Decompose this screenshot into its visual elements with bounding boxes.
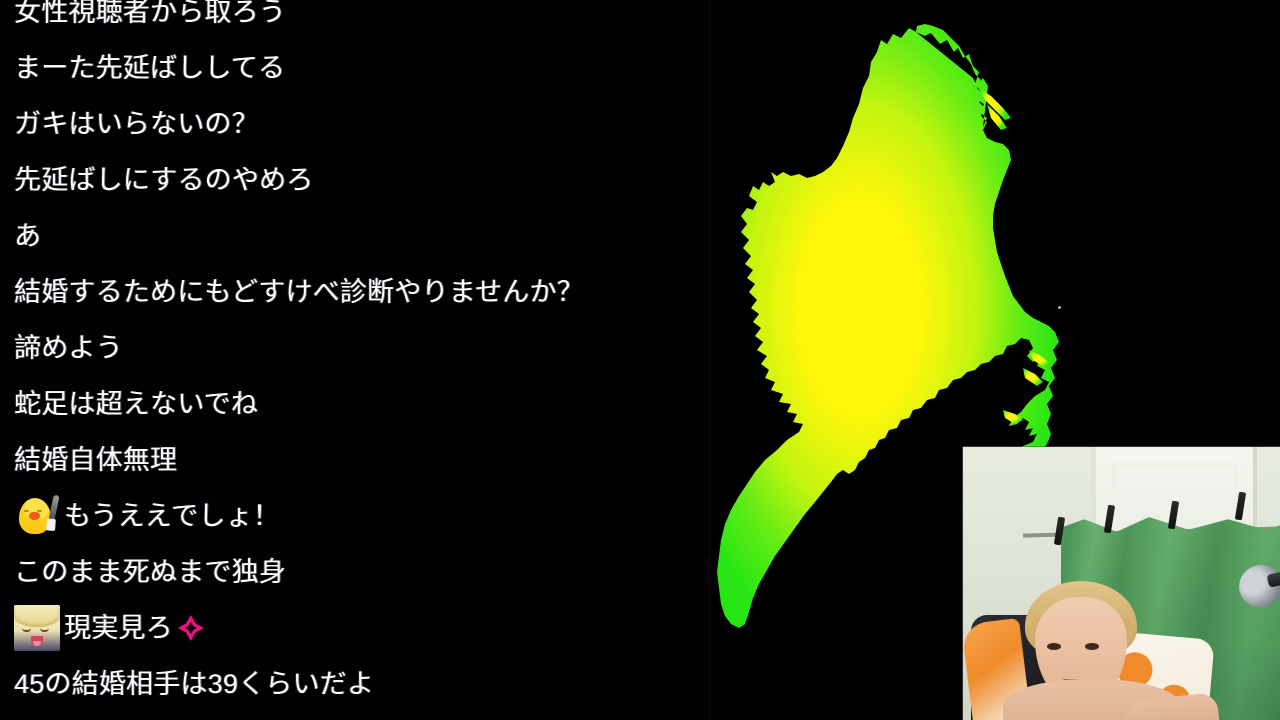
chat-message-text: このまま死ぬまで独身 [14,544,286,600]
chat-message-text: 現実見ろ [64,600,173,656]
chat-message-text: 結婚自体無理 [14,432,177,488]
chat-message: 蛇足は超えないでね [0,376,711,432]
webcam-person-eye-left [1047,643,1061,650]
chat-message-text: もうええでしょ！ [64,488,280,544]
anger-burst-icon [178,615,204,641]
streamer-webcam[interactable] [963,447,1280,720]
chat-message-text: あ [14,208,41,264]
cigarette-icon [48,495,59,522]
chat-message-text: まーた先延ばししてる [14,40,285,96]
webcam-person-eye-right [1085,643,1099,650]
stream-overlay-root: 女性視聴者から取ろう まーた先延ばししてる ガキはいらないの？ 先延ばしにするの… [0,0,1280,720]
chat-message-text: ガキはいらないの？ [14,96,259,152]
chat-message: まーた先延ばししてる [0,40,711,96]
chat-message-list[interactable]: 女性視聴者から取ろう まーた先延ばししてる ガキはいらないの？ 先延ばしにするの… [0,0,711,712]
chat-message: 45の結婚相手は39くらいだよ [0,656,711,712]
chat-message: このまま死ぬまで独身 [0,544,711,600]
chat-message: ガキはいらないの？ [0,96,711,152]
chat-message-text: 蛇足は超えないでね [14,376,258,432]
chat-message: もうええでしょ！ [0,488,711,544]
chat-message: 結婚自体無理 [0,432,711,488]
chick-emoji-avatar [14,493,60,539]
avatar-eye-right-icon [40,628,49,632]
chat-message-text: 45の結婚相手は39くらいだよ [14,656,374,712]
chat-message: 先延ばしにするのやめろ [0,152,711,208]
chat-panel[interactable]: 女性視聴者から取ろう まーた先延ばししてる ガキはいらないの？ 先延ばしにするの… [0,0,711,720]
avatar-mouth-icon [31,636,43,646]
chat-message: 諦めよう [0,320,711,376]
chat-message: 女性視聴者から取ろう [0,0,711,40]
chat-message-text: 結婚するためにもどすけべ診断やりませんか？ [14,264,584,320]
chat-message: あ [0,208,711,264]
avatar-eye-left-icon [22,628,31,632]
chat-message: 現実見ろ [0,600,711,656]
chat-message-text: 先延ばしにするのやめろ [14,152,313,208]
map-marker-dot [1058,306,1061,309]
anime-girl-avatar [14,605,60,651]
chat-message: 結婚するためにもどすけべ診断やりませんか？ [0,264,711,320]
chat-message-text: 諦めよう [14,320,123,376]
chat-message-text: 女性視聴者から取ろう [14,0,286,40]
